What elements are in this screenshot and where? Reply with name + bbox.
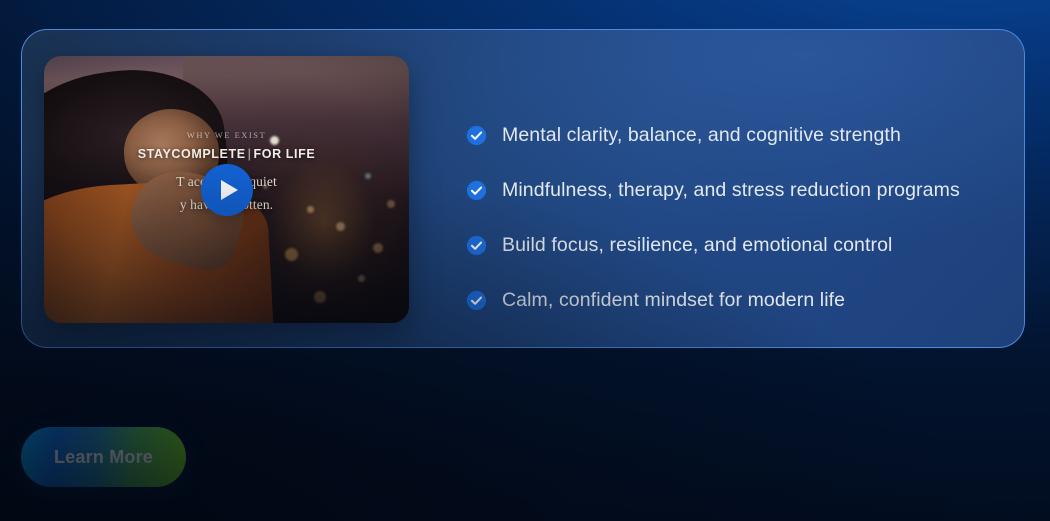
play-triangle-icon — [221, 180, 238, 200]
benefits-list: Mental clarity, balance, and cognitive s… — [466, 108, 1006, 328]
check-circle-icon — [466, 125, 487, 146]
learn-more-button[interactable]: Learn More — [21, 427, 186, 487]
video-thumbnail[interactable]: WHY WE EXIST STAYCOMPLETE|FOR LIFE T ace… — [44, 56, 409, 323]
check-circle-icon — [466, 235, 487, 256]
benefit-item: Mindfulness, therapy, and stress reducti… — [466, 163, 1006, 218]
feature-card: WHY WE EXIST STAYCOMPLETE|FOR LIFE T ace… — [21, 29, 1025, 348]
benefit-label: Calm, confident mindset for modern life — [502, 289, 845, 312]
benefit-label: Mental clarity, balance, and cognitive s… — [502, 124, 901, 147]
play-button[interactable] — [201, 164, 253, 216]
benefit-item: Calm, confident mindset for modern life — [466, 273, 1006, 328]
benefit-item: Mental clarity, balance, and cognitive s… — [466, 108, 1006, 163]
benefit-item: Build focus, resilience, and emotional c… — [466, 218, 1006, 273]
page-root: WHY WE EXIST STAYCOMPLETE|FOR LIFE T ace… — [0, 0, 1050, 521]
benefit-label: Build focus, resilience, and emotional c… — [502, 234, 892, 257]
benefit-label: Mindfulness, therapy, and stress reducti… — [502, 179, 960, 202]
check-circle-icon — [466, 290, 487, 311]
check-circle-icon — [466, 180, 487, 201]
